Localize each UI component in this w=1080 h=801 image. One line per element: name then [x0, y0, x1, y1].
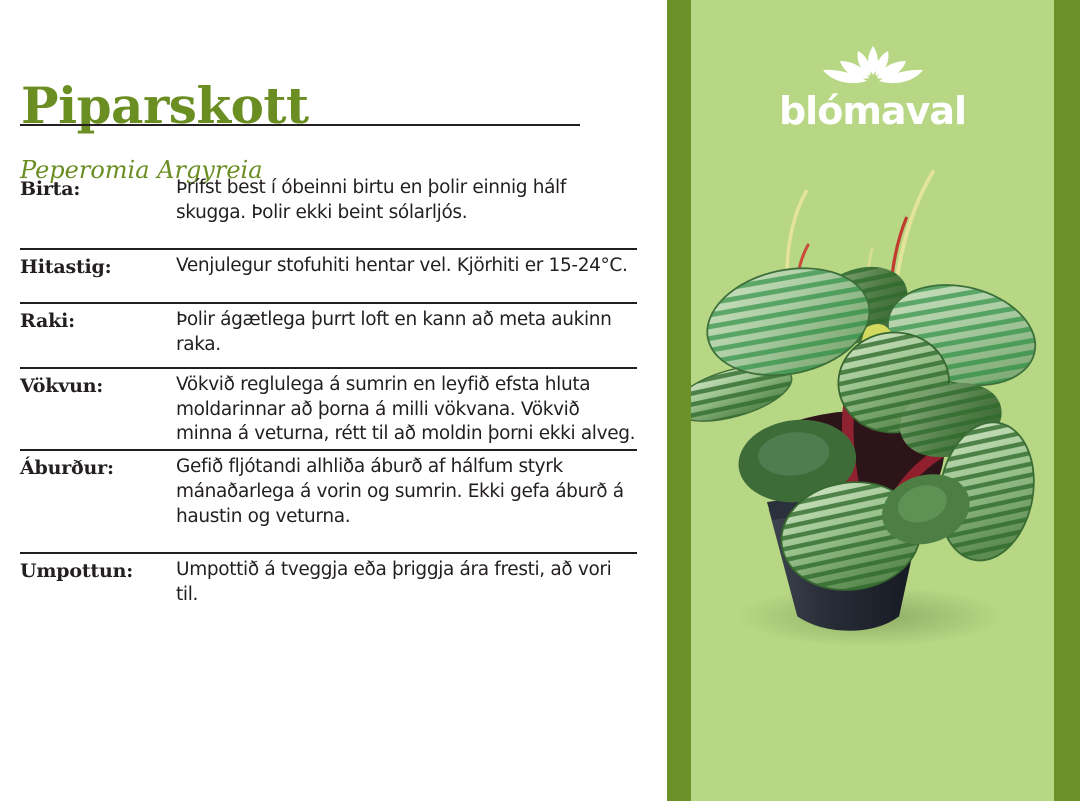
title-divider — [20, 124, 580, 126]
care-label: Áburður: — [20, 455, 176, 482]
info-panel: Piparskott Peperomia Argyreia Birta: Þrí… — [0, 0, 667, 801]
care-label: Raki: — [20, 308, 176, 335]
table-row: Umpottun: Umpottið á tveggja eða þriggja… — [20, 552, 637, 608]
care-value: Venjulegur stofuhiti hentar vel. Kjörhit… — [176, 254, 637, 279]
brand-logo: blómaval — [691, 44, 1054, 130]
care-label: Hitastig: — [20, 254, 176, 281]
care-value: Umpottið á tveggja eða þriggja ára frest… — [176, 558, 637, 608]
care-value: Þolir ágætlega þurrt loft en kann að met… — [176, 308, 637, 358]
table-row: Raki: Þolir ágætlega þurrt loft en kann … — [20, 302, 637, 367]
lotus-flower-icon — [813, 44, 933, 90]
table-row: Hitastig: Venjulegur stofuhiti hentar ve… — [20, 248, 637, 303]
care-label: Vökvun: — [20, 373, 176, 400]
care-table: Birta: Þrífst best í óbeinni birtu en þo… — [20, 176, 637, 608]
plant-care-card: Piparskott Peperomia Argyreia Birta: Þrí… — [0, 0, 1080, 801]
brand-panel-inner: blómaval — [691, 0, 1054, 801]
care-label: Umpottun: — [20, 558, 176, 585]
care-value: Þrífst best í óbeinni birtu en þolir ein… — [176, 176, 637, 226]
plant-photo — [691, 120, 1054, 720]
care-value: Vökvið reglulega á sumrin en leyfið efst… — [176, 373, 637, 447]
brand-panel: blómaval — [667, 0, 1080, 801]
table-row: Vökvun: Vökvið reglulega á sumrin en ley… — [20, 367, 637, 449]
table-row: Birta: Þrífst best í óbeinni birtu en þo… — [20, 176, 637, 248]
page-title: Piparskott — [21, 81, 309, 131]
care-value: Gefið fljótandi alhliða áburð af hálfum … — [176, 455, 637, 529]
panel-bottom-fade — [691, 731, 1054, 801]
table-row: Áburður: Gefið fljótandi alhliða áburð a… — [20, 449, 637, 552]
care-label: Birta: — [20, 176, 176, 203]
